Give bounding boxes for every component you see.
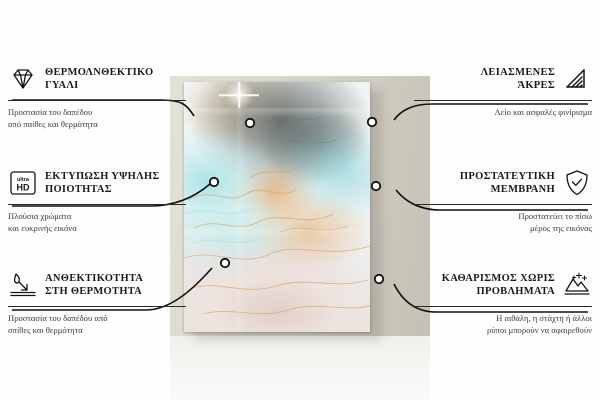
feature-heat-durability[interactable]: ΑΝΘΕΚΤΙΚΟΤΗΤΑ ΣΤΗ ΘΕΡΜΟΤΗΤΑ Προστασία το… bbox=[8, 268, 186, 337]
feature-title: ΛΕΙΑΣΜΕΝΕΣ ΆΚΡΕΣ bbox=[481, 66, 555, 92]
divider bbox=[414, 204, 592, 205]
divider bbox=[8, 100, 186, 101]
easy-clean-sparkle-icon bbox=[562, 270, 592, 300]
feature-protective-membrane[interactable]: ΠΡΟΣΤΑΤΕΥΤΙΚΗ ΜΕΜΒΡΑΝΗ Προστατεύει το πί… bbox=[414, 166, 592, 235]
feature-header: ΛΕΙΑΣΜΕΝΕΣ ΆΚΡΕΣ bbox=[414, 62, 592, 96]
heat-resistance-icon bbox=[8, 270, 38, 300]
divider bbox=[414, 306, 592, 307]
feature-header: ΚΑΘΑΡΙΣΜΟΣ ΧΩΡΙΣ ΠΡΟΒΛΗΜΑΤΑ bbox=[414, 268, 592, 302]
polished-edges-icon bbox=[562, 64, 592, 94]
glass-highlight-sparkle bbox=[222, 82, 256, 112]
feature-description: Προστασία του δαπέδου από παίθες και θερ… bbox=[8, 106, 186, 131]
feature-description: Προστατεύει το πίσω μέρος της εικόνας bbox=[414, 210, 592, 235]
divider bbox=[414, 100, 592, 101]
ultra-hd-icon: ultra HD bbox=[8, 168, 38, 198]
feature-title: ΑΝΘΕΚΤΙΚΟΤΗΤΑ ΣΤΗ ΘΕΡΜΟΤΗΤΑ bbox=[45, 272, 143, 298]
feature-easy-cleaning[interactable]: ΚΑΘΑΡΙΣΜΟΣ ΧΩΡΙΣ ΠΡΟΒΛΗΜΑΤΑ Η αιθάλη, η … bbox=[414, 268, 592, 337]
shield-check-icon bbox=[562, 168, 592, 198]
feature-high-quality-print[interactable]: ultra HD ΕΚΤΥΠΩΣΗ ΥΨΗΛΗΣ ΠΟΙΟΤΗΤΑΣ Πλούσ… bbox=[8, 166, 186, 235]
feature-title: ΠΡΟΣΤΑΤΕΥΤΙΚΗ ΜΕΜΒΡΑΝΗ bbox=[460, 170, 555, 196]
feature-header: ultra HD ΕΚΤΥΠΩΣΗ ΥΨΗΛΗΣ ΠΟΙΟΤΗΤΑΣ bbox=[8, 166, 186, 200]
feature-polished-edges[interactable]: ΛΕΙΑΣΜΕΝΕΣ ΆΚΡΕΣ Λείο και ασφαλές φινίρι… bbox=[414, 62, 592, 118]
glass-reflection-lines bbox=[184, 82, 370, 332]
feature-title: ΘΕΡΜΟΛΝΘΕΚΤΙΚΟ ΓΥΑΛΙ bbox=[45, 66, 154, 92]
feature-header: ΠΡΟΣΤΑΤΕΥΤΙΚΗ ΜΕΜΒΡΑΝΗ bbox=[414, 166, 592, 200]
feature-description: Προστασία του δαπέδου από σπίθες και θερ… bbox=[8, 312, 186, 337]
feature-description: Λείο και ασφαλές φινίρισμα bbox=[414, 106, 592, 118]
product-scene bbox=[170, 0, 430, 400]
divider bbox=[8, 204, 186, 205]
glass-panel-product bbox=[184, 82, 370, 332]
feature-title: ΕΚΤΥΠΩΣΗ ΥΨΗΛΗΣ ΠΟΙΟΤΗΤΑΣ bbox=[45, 170, 160, 196]
feature-description: Η αιθάλη, η στάχτη ή άλλοι ρύποι μπορούν… bbox=[414, 312, 592, 337]
feature-title: ΚΑΘΑΡΙΣΜΟΣ ΧΩΡΙΣ ΠΡΟΒΛΗΜΑΤΑ bbox=[442, 272, 555, 298]
marble-art-print bbox=[184, 82, 370, 332]
feature-header: ΑΝΘΕΚΤΙΚΟΤΗΤΑ ΣΤΗ ΘΕΡΜΟΤΗΤΑ bbox=[8, 268, 186, 302]
svg-text:HD: HD bbox=[17, 183, 30, 193]
infographic-canvas: ΘΕΡΜΟΛΝΘΕΚΤΙΚΟ ΓΥΑΛΙ Προστασία του δαπέδ… bbox=[0, 0, 600, 400]
feature-description: Πλούσια χρώματα και ευκρινής εικόνα bbox=[8, 210, 186, 235]
floor-surface bbox=[170, 336, 430, 400]
feature-heat-resistant-glass[interactable]: ΘΕΡΜΟΛΝΘΕΚΤΙΚΟ ΓΥΑΛΙ Προστασία του δαπέδ… bbox=[8, 62, 186, 131]
diamond-icon bbox=[8, 64, 38, 94]
divider bbox=[8, 306, 186, 307]
feature-header: ΘΕΡΜΟΛΝΘΕΚΤΙΚΟ ΓΥΑΛΙ bbox=[8, 62, 186, 96]
